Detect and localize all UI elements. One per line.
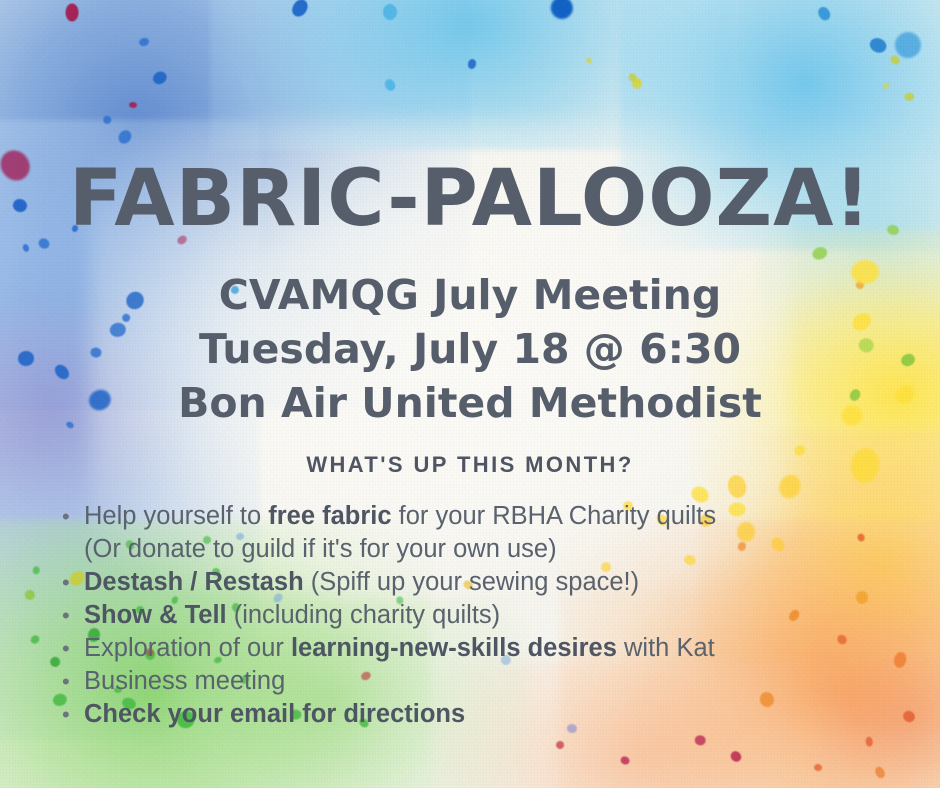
plain-text: Help yourself to xyxy=(84,502,268,530)
agenda-bullet-list: •Help yourself to free fabric for your R… xyxy=(62,500,900,731)
agenda-bullet-text: Business meeting xyxy=(84,665,900,698)
poster-subtitle-block: CVAMQG July Meeting Tuesday, July 18 @ 6… xyxy=(0,268,940,430)
plain-text: (including charity quilts) xyxy=(227,601,501,629)
bullet-point-icon: • xyxy=(62,500,84,533)
bullet-point-icon: • xyxy=(62,665,84,698)
subtitle-line-venue: Bon Air United Methodist xyxy=(0,376,940,430)
agenda-bullet-item: •Business meeting xyxy=(62,665,900,698)
section-heading: WHAT'S UP THIS MONTH? xyxy=(0,452,940,478)
bullet-point-icon: • xyxy=(62,533,84,566)
poster-canvas: FABRIC-PALOOZA! CVAMQG July Meeting Tues… xyxy=(0,0,940,788)
agenda-bullet-item: •Show & Tell (including charity quilts) xyxy=(62,599,900,632)
agenda-bullet-item: •Exploration of our learning-new-skills … xyxy=(62,632,900,665)
emphasized-text: Destash / Restash xyxy=(84,568,304,596)
agenda-bullet-item: •Help yourself to free fabric for your R… xyxy=(62,500,900,533)
agenda-bullet-item: •(Or donate to guild if it's for your ow… xyxy=(62,533,900,566)
agenda-bullet-text: Destash / Restash (Spiff up your sewing … xyxy=(84,566,900,599)
agenda-bullet-text: Help yourself to free fabric for your RB… xyxy=(84,500,900,533)
bullet-point-icon: • xyxy=(62,698,84,731)
emphasized-text: learning-new-skills desires xyxy=(291,634,617,662)
subtitle-line-datetime: Tuesday, July 18 @ 6:30 xyxy=(0,322,940,376)
bullet-point-icon: • xyxy=(62,632,84,665)
poster-title: FABRIC-PALOOZA! xyxy=(0,160,940,238)
plain-text: (Or donate to guild if it's for your own… xyxy=(84,535,557,563)
emphasized-text: Show & Tell xyxy=(84,601,227,629)
subtitle-line-organization: CVAMQG July Meeting xyxy=(0,268,940,322)
plain-text: Business meeting xyxy=(84,667,285,695)
agenda-bullet-item: •Destash / Restash (Spiff up your sewing… xyxy=(62,566,900,599)
agenda-bullet-text: Exploration of our learning-new-skills d… xyxy=(84,632,900,665)
plain-text: (Spiff up your sewing space!) xyxy=(304,568,639,596)
agenda-bullet-text: (Or donate to guild if it's for your own… xyxy=(84,533,900,566)
agenda-bullet-text: Show & Tell (including charity quilts) xyxy=(84,599,900,632)
poster-content: FABRIC-PALOOZA! CVAMQG July Meeting Tues… xyxy=(0,0,940,788)
agenda-bullet-text: Check your email for directions xyxy=(84,698,900,731)
agenda-bullet-item: •Check your email for directions xyxy=(62,698,900,731)
emphasized-text: free fabric xyxy=(268,502,391,530)
bullet-point-icon: • xyxy=(62,599,84,632)
plain-text: with Kat xyxy=(617,634,715,662)
emphasized-text: Check your email for directions xyxy=(84,700,465,728)
plain-text: Exploration of our xyxy=(84,634,291,662)
bullet-point-icon: • xyxy=(62,566,84,599)
plain-text: for your RBHA Charity quilts xyxy=(392,502,717,530)
